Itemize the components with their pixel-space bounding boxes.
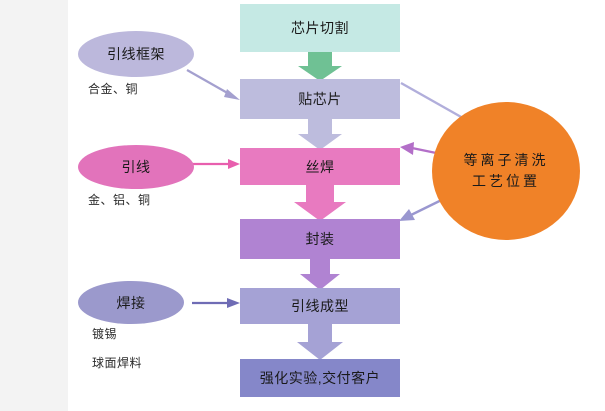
process-step-label: 强化实验,交付客户 bbox=[260, 368, 380, 388]
process-step-die-attach[interactable]: 贴芯片 bbox=[240, 79, 400, 119]
material-sublabel-soldering-ball: 球面焊料 bbox=[92, 354, 142, 371]
arrow-die-attach-to-wire-bond bbox=[298, 119, 342, 150]
material-sublabel-bond-wire: 金、铝、铜 bbox=[88, 191, 151, 208]
arrow-dicing-to-die-attach bbox=[298, 52, 342, 81]
process-step-wire-bond[interactable]: 丝焊 bbox=[240, 148, 400, 185]
arrow-bond-wire-to-wire-bond bbox=[190, 159, 240, 169]
highlight-node-plasma-clean[interactable]: 等离子清洗 工艺位置 bbox=[432, 102, 580, 240]
flowchart-canvas: 芯片切割 贴芯片 丝焊 封装 引线成型 强化实验,交付客户 引线框架 合金、铜 … bbox=[0, 0, 605, 411]
process-step-dicing[interactable]: 芯片切割 bbox=[240, 4, 400, 52]
material-sublabel-soldering-tin: 镀锡 bbox=[92, 325, 117, 342]
process-step-test-delivery[interactable]: 强化实验,交付客户 bbox=[240, 359, 400, 397]
plasma-clean-line-2: 工艺位置 bbox=[472, 171, 540, 192]
process-step-molding[interactable]: 封装 bbox=[240, 219, 400, 259]
material-node-soldering[interactable]: 焊接 bbox=[78, 281, 184, 324]
material-node-lead-frame[interactable]: 引线框架 bbox=[78, 31, 194, 77]
process-step-lead-forming[interactable]: 引线成型 bbox=[240, 288, 400, 324]
material-sublabel-lead-frame: 合金、铜 bbox=[88, 80, 138, 97]
process-step-label: 引线成型 bbox=[291, 296, 349, 316]
material-node-label: 引线框架 bbox=[107, 44, 165, 64]
arrow-wire-bond-to-molding bbox=[294, 185, 346, 221]
plasma-clean-line-1: 等离子清洗 bbox=[464, 150, 549, 171]
arrow-lead-forming-to-test bbox=[297, 324, 343, 360]
arrow-molding-to-lead-forming bbox=[300, 259, 340, 290]
material-node-bond-wire[interactable]: 引线 bbox=[78, 145, 194, 189]
material-node-label: 引线 bbox=[122, 157, 151, 177]
arrow-soldering-to-lead-forming bbox=[192, 298, 240, 308]
process-step-label: 封装 bbox=[306, 229, 335, 249]
process-step-label: 丝焊 bbox=[306, 157, 335, 177]
process-step-label: 贴芯片 bbox=[298, 89, 342, 109]
process-step-label: 芯片切割 bbox=[291, 18, 349, 38]
material-node-label: 焊接 bbox=[117, 293, 146, 313]
arrow-lead-frame-to-die-attach bbox=[187, 70, 240, 100]
